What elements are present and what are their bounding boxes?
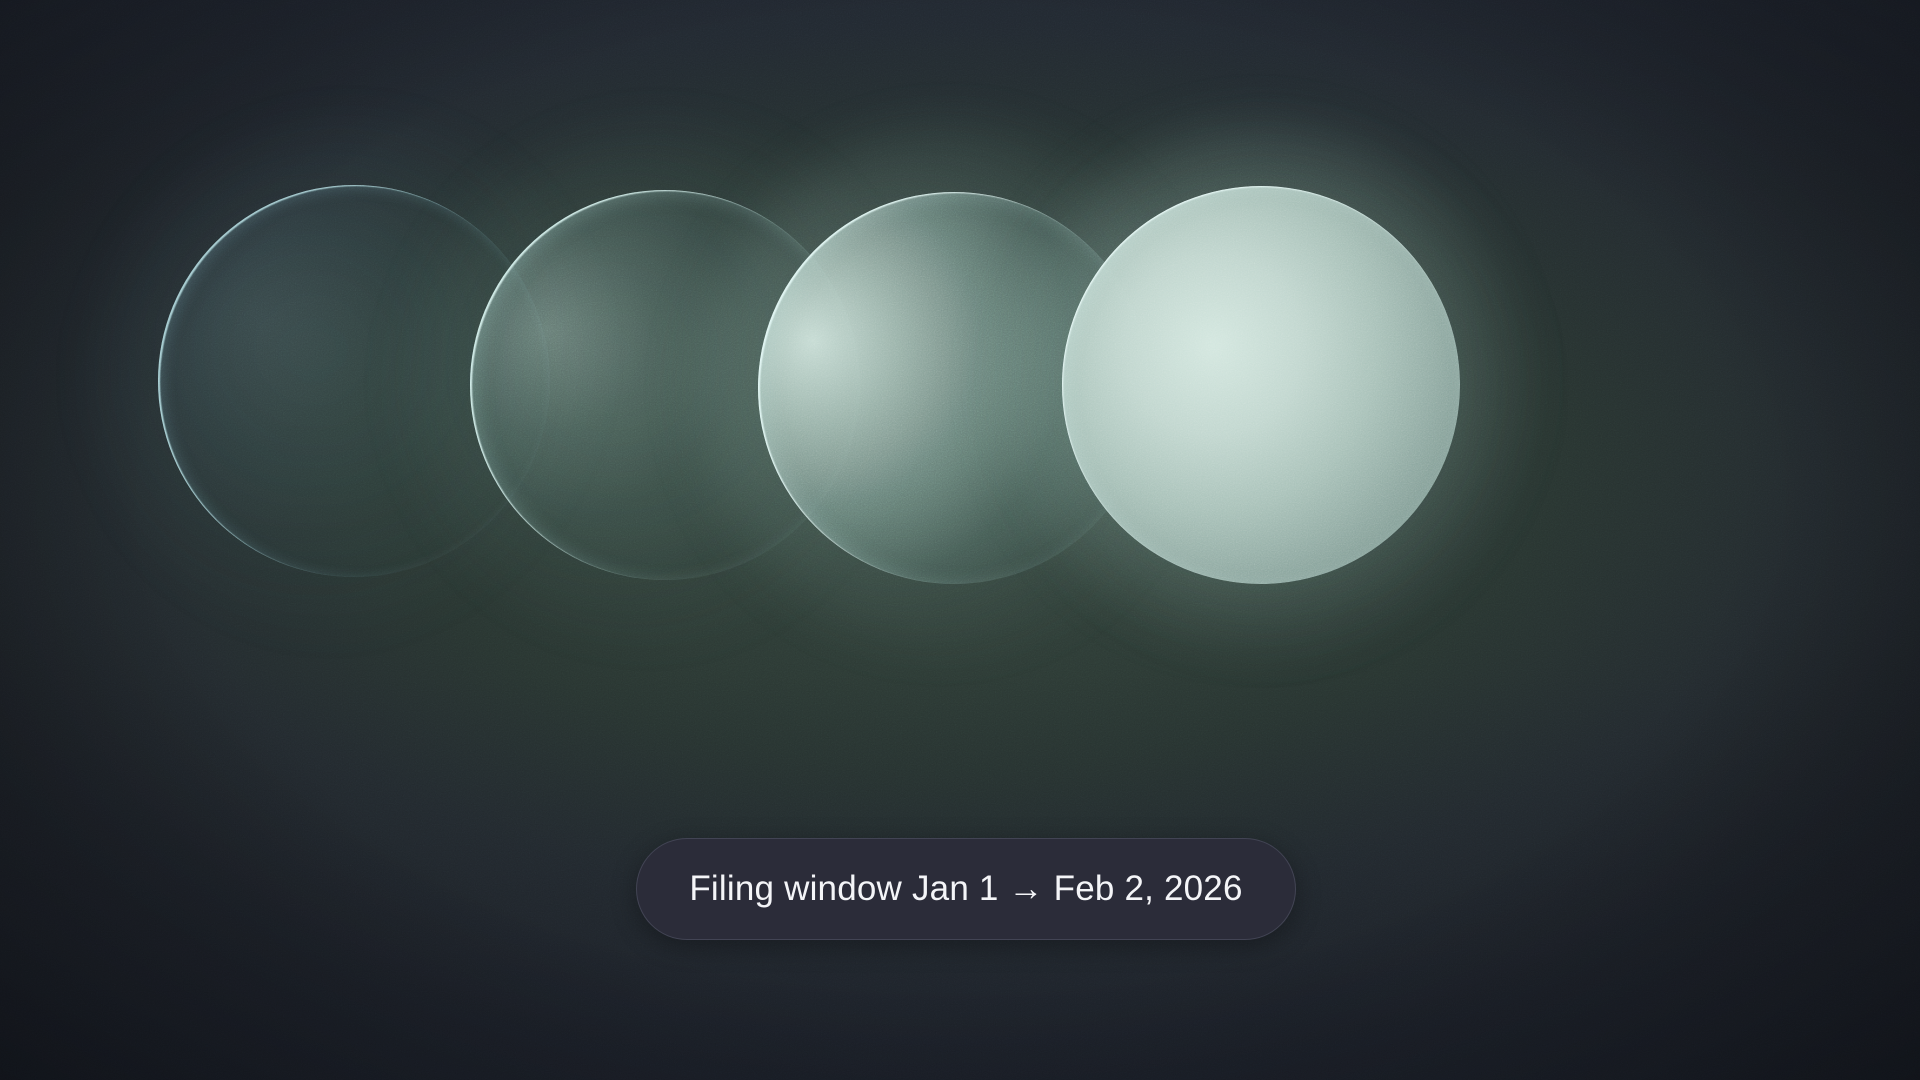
- moon-phase-scene: Filing window Jan 1 → Feb 2, 2026: [0, 0, 1920, 1080]
- moon-body: [1062, 186, 1460, 584]
- filing-window-pill[interactable]: Filing window Jan 1 → Feb 2, 2026: [636, 838, 1296, 940]
- moon-phase-full: [1062, 186, 1460, 584]
- filing-window-label: Filing window Jan 1 → Feb 2, 2026: [689, 869, 1242, 909]
